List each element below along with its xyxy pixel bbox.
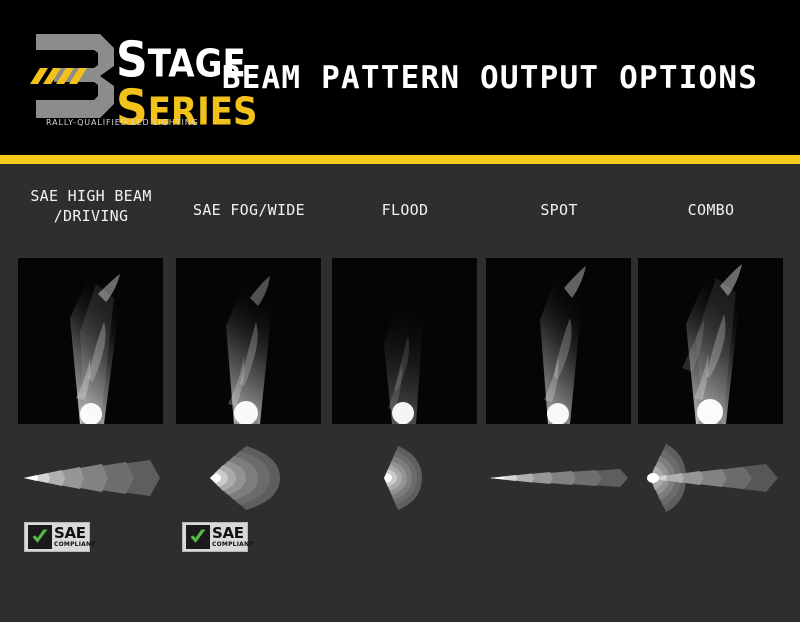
beam-column-flood: FLOOD xyxy=(332,164,478,622)
sae-compliant-badge: SAE COMPLIANT xyxy=(24,522,90,552)
sae-badge-title: SAE xyxy=(212,526,254,541)
beam-column-label: FLOOD xyxy=(332,200,478,220)
beam-column-label: SAE HIGH BEAM /DRIVING xyxy=(18,186,164,227)
beam-column-label: SAE FOG/WIDE xyxy=(176,200,322,220)
accent-divider-bar xyxy=(0,155,800,164)
sae-compliant-badge: SAE COMPLIANT xyxy=(182,522,248,552)
sae-badge-text: SAE COMPLIANT xyxy=(212,526,254,548)
beam-photo-sae-high-beam-driving xyxy=(18,258,163,424)
beam-diagram-sae-fog-wide xyxy=(176,442,322,514)
beam-photo-combo xyxy=(638,258,783,424)
beam-pattern-infographic: STAGE SERIES RALLY-QUALIFIED LED LIGHTIN… xyxy=(0,0,800,622)
beam-column-sae-high-beam-driving: SAE HIGH BEAM /DRIVING xyxy=(18,164,164,622)
beam-diagram-combo xyxy=(638,442,784,514)
beam-diagram-spot xyxy=(486,442,632,514)
check-icon xyxy=(28,525,52,549)
sae-badge-subtitle: COMPLIANT xyxy=(212,542,254,548)
beam-pattern-grid: SAE HIGH BEAM /DRIVING xyxy=(0,164,800,622)
sae-badge-title: SAE xyxy=(54,526,96,541)
beam-photo-spot xyxy=(486,258,631,424)
beam-column-label: COMBO xyxy=(638,200,784,220)
sae-badge-subtitle: COMPLIANT xyxy=(54,542,96,548)
header-bar: STAGE SERIES RALLY-QUALIFIED LED LIGHTIN… xyxy=(0,0,800,155)
beam-photo-sae-fog-wide xyxy=(176,258,321,424)
beam-photo-flood xyxy=(332,258,477,424)
page-title: BEAM PATTERN OUTPUT OPTIONS xyxy=(0,0,800,155)
beam-column-combo: COMBO xyxy=(638,164,784,622)
beam-diagram-flood xyxy=(332,442,478,514)
beam-column-spot: SPOT xyxy=(486,164,632,622)
sae-badge-text: SAE COMPLIANT xyxy=(54,526,96,548)
beam-column-sae-fog-wide: SAE FOG/WIDE xyxy=(176,164,322,622)
beam-diagram-sae-high-beam-driving xyxy=(18,442,164,514)
beam-column-label: SPOT xyxy=(486,200,632,220)
check-icon xyxy=(186,525,210,549)
